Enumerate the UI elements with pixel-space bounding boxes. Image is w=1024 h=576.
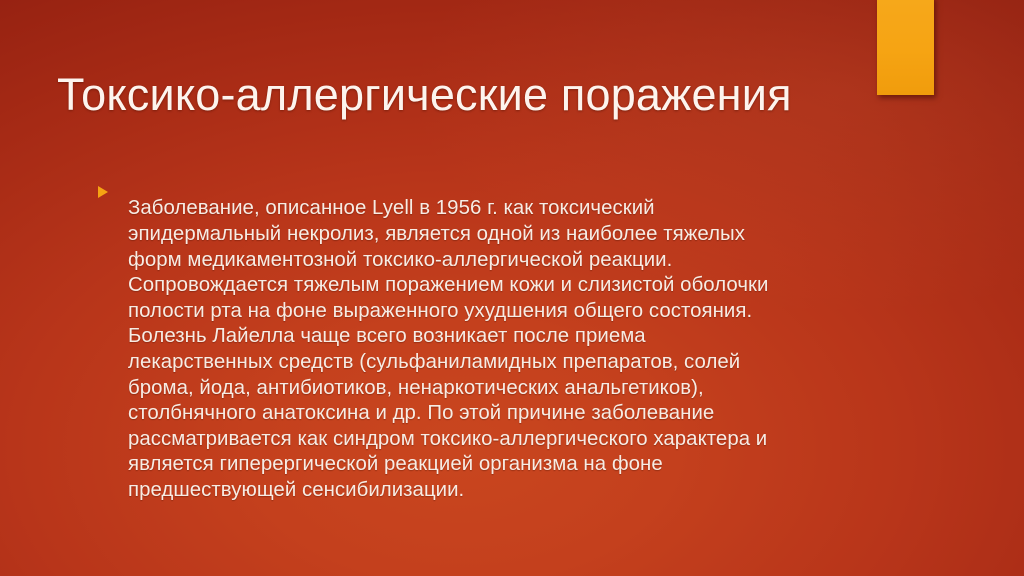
slide-body-bullet-list: Заболевание, описанное Lyell в 1956 г. к… — [96, 176, 796, 524]
presentation-slide: Токсико-аллергические поражения Заболева… — [0, 0, 1024, 576]
slide-title: Токсико-аллергические поражения — [57, 68, 857, 123]
body-paragraph: Заболевание, описанное Lyell в 1956 г. к… — [128, 196, 796, 503]
accent-bar-decoration — [877, 0, 934, 95]
triangle-right-bullet-icon — [96, 185, 110, 199]
